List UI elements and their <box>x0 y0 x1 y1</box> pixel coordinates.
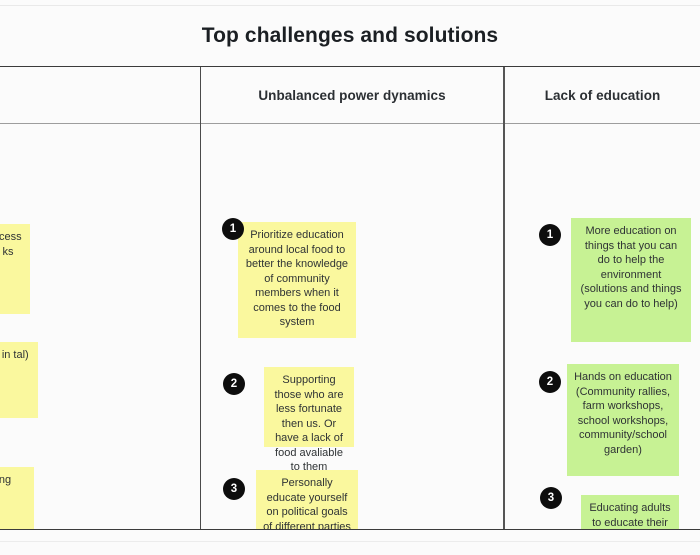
whiteboard-canvas: Top challenges and solutions ccess urces… <box>0 0 700 555</box>
column-header-label: Unbalanced power dynamics <box>258 88 445 103</box>
rank-badge: 3 <box>540 487 562 509</box>
sticky-note[interactable]: urces who ccess can't more ks <box>0 224 30 314</box>
challenges-table: ccess urces who ccess can't more ks e me… <box>0 66 700 530</box>
rank-badge: 3 <box>223 478 245 500</box>
board-title-band: Top challenges and solutions <box>0 6 700 66</box>
sticky-note[interactable]: e nities ring <box>0 467 34 529</box>
column-access[interactable]: ccess urces who ccess can't more ks e me… <box>0 67 200 529</box>
column-body-access: urces who ccess can't more ks e ment ng … <box>0 124 200 529</box>
sticky-note[interactable]: Personally educate yourself on political… <box>256 470 358 529</box>
rank-badge: 1 <box>222 218 244 240</box>
rank-badge: 2 <box>539 371 561 393</box>
column-lack-of-education[interactable]: Lack of education 1 More education on th… <box>503 67 700 529</box>
page-title: Top challenges and solutions <box>202 24 498 48</box>
sticky-note[interactable]: Prioritize education around local food t… <box>238 222 356 338</box>
column-header-lack-of-education: Lack of education <box>505 67 700 124</box>
sticky-note[interactable]: e ment ng s in tal) <box>0 342 38 418</box>
bottom-strip <box>0 531 700 555</box>
sticky-note[interactable]: Hands on education (Community rallies, f… <box>567 364 679 476</box>
column-header-unbalanced-power-dynamics: Unbalanced power dynamics <box>201 67 503 124</box>
column-body-unbalanced-power-dynamics: 1 Prioritize education around local food… <box>201 124 503 529</box>
sticky-note[interactable]: Supporting those who are less fortunate … <box>264 367 354 447</box>
column-body-lack-of-education: 1 More education on things that you can … <box>505 124 700 529</box>
column-header-access: ccess <box>0 67 200 124</box>
rank-badge: 1 <box>539 224 561 246</box>
sticky-note[interactable]: Educating adults to educate their childr… <box>581 495 679 529</box>
rank-badge: 2 <box>223 373 245 395</box>
column-header-label: Lack of education <box>545 88 661 103</box>
sticky-note[interactable]: More education on things that you can do… <box>571 218 691 342</box>
bottom-divider <box>0 541 700 542</box>
column-unbalanced-power-dynamics[interactable]: Unbalanced power dynamics 1 Prioritize e… <box>200 67 503 529</box>
